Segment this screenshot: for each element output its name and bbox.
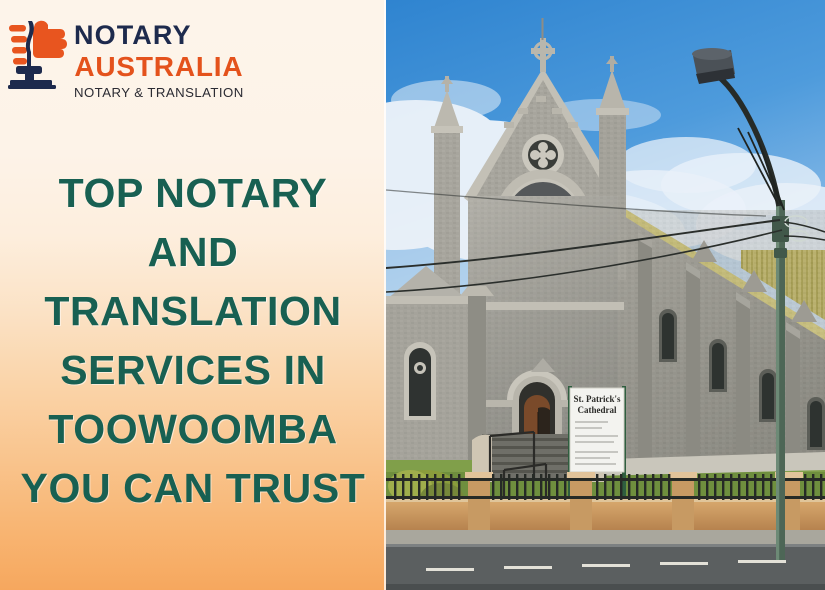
- notary-stamp-icon: [8, 16, 68, 94]
- cathedral-illustration: St. Patrick's Cathedral: [386, 0, 825, 590]
- headline-line-3: TRANSLATION: [6, 282, 380, 341]
- cathedral-photo: St. Patrick's Cathedral: [386, 0, 825, 590]
- headline-line-2: AND: [6, 223, 380, 282]
- brand-logo[interactable]: NOTARY AUSTRALIA NOTARY & TRANSLATION: [8, 16, 244, 99]
- lamp-head: [692, 48, 735, 84]
- brand-name-notary: NOTARY: [74, 22, 244, 49]
- headline-line-1: TOP NOTARY: [6, 164, 380, 223]
- footpath: [386, 530, 825, 546]
- boundary-fence: [386, 472, 825, 532]
- string-course: [462, 302, 624, 310]
- panel-divider: [384, 0, 386, 590]
- left-content-panel: NOTARY AUSTRALIA NOTARY & TRANSLATION TO…: [0, 0, 386, 590]
- sign-title-line2: Cathedral: [578, 405, 617, 415]
- headline: TOP NOTARY AND TRANSLATION SERVICES IN T…: [0, 164, 386, 518]
- headline-line-4: SERVICES IN: [6, 341, 380, 400]
- sign-title-line1: St. Patrick's: [574, 394, 621, 404]
- aisle-lancet-window: [404, 342, 436, 420]
- brand-wordmark: NOTARY AUSTRALIA NOTARY & TRANSLATION: [74, 16, 244, 99]
- headline-line-5: TOOWOOMBA: [6, 400, 380, 459]
- brand-tagline: NOTARY & TRANSLATION: [74, 86, 244, 99]
- promo-banner: NOTARY AUSTRALIA NOTARY & TRANSLATION TO…: [0, 0, 825, 590]
- headline-line-6: YOU CAN TRUST: [6, 459, 380, 518]
- brand-name-australia: AUSTRALIA: [74, 53, 244, 81]
